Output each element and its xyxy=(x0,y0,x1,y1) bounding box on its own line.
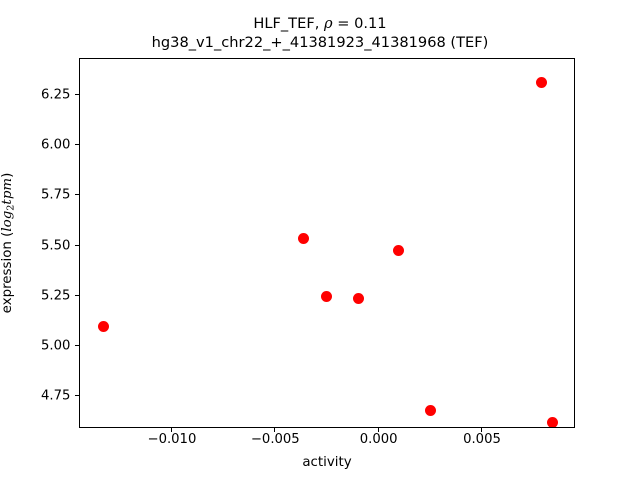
y-axis-label: expression (log2tpm) xyxy=(0,58,22,428)
y-tick: 6.25 xyxy=(75,94,80,95)
y-tick: 5.25 xyxy=(75,295,80,296)
scatter-point xyxy=(353,293,364,304)
rho-symbol: ρ xyxy=(324,15,333,32)
chart-title-line-1: HLF_TEF, ρ = 0.11 xyxy=(0,14,640,33)
y-tick: 6.00 xyxy=(75,144,80,145)
scatter-point xyxy=(298,233,309,244)
chart-title: HLF_TEF, ρ = 0.11 hg38_v1_chr22_+_413819… xyxy=(0,14,640,52)
x-tick-label: 0.000 xyxy=(360,432,398,447)
x-tick: 0.005 xyxy=(481,427,482,432)
y-tick-label: 4.75 xyxy=(41,388,70,403)
y-tick: 5.00 xyxy=(75,345,80,346)
scatter-point xyxy=(98,321,109,332)
y-tick-label: 5.50 xyxy=(41,238,70,253)
x-tick-label: 0.005 xyxy=(463,432,501,447)
scatter-point xyxy=(425,405,436,416)
x-tick: −0.005 xyxy=(274,427,275,432)
x-tick-label: −0.010 xyxy=(148,432,197,447)
y-tick-label: 5.00 xyxy=(41,338,70,353)
chart-title-line-2: hg38_v1_chr22_+_41381923_41381968 (TEF) xyxy=(0,33,640,52)
scatter-point xyxy=(536,77,547,88)
scatter-point xyxy=(321,291,332,302)
y-axis-label-subscript: 2 xyxy=(6,205,17,211)
y-axis-label-tpm: tpm xyxy=(0,178,15,205)
x-tick: −0.010 xyxy=(171,427,172,432)
y-tick-label: 5.25 xyxy=(41,288,70,303)
x-axis-label: activity xyxy=(79,455,575,470)
y-axis-label-log: log xyxy=(0,211,15,232)
y-tick: 5.75 xyxy=(75,194,80,195)
scatter-plot-figure: HLF_TEF, ρ = 0.11 hg38_v1_chr22_+_413819… xyxy=(0,0,640,480)
scatter-point xyxy=(393,245,404,256)
y-axis-label-prefix: expression ( xyxy=(0,232,15,314)
plot-axes: 4.755.005.255.505.756.006.25 −0.010−0.00… xyxy=(79,58,575,428)
scatter-point xyxy=(547,417,558,427)
y-axis-label-suffix: ) xyxy=(0,173,15,178)
y-tick-label: 6.00 xyxy=(41,138,70,153)
chart-title-prefix: HLF_TEF, xyxy=(253,15,324,32)
x-tick-label: −0.005 xyxy=(251,432,300,447)
x-tick: 0.000 xyxy=(378,427,379,432)
y-tick: 5.50 xyxy=(75,245,80,246)
y-tick: 4.75 xyxy=(75,395,80,396)
plot-data-area xyxy=(80,59,574,427)
chart-title-suffix: = 0.11 xyxy=(333,15,387,32)
y-tick-label: 5.75 xyxy=(41,188,70,203)
y-tick-label: 6.25 xyxy=(41,88,70,103)
